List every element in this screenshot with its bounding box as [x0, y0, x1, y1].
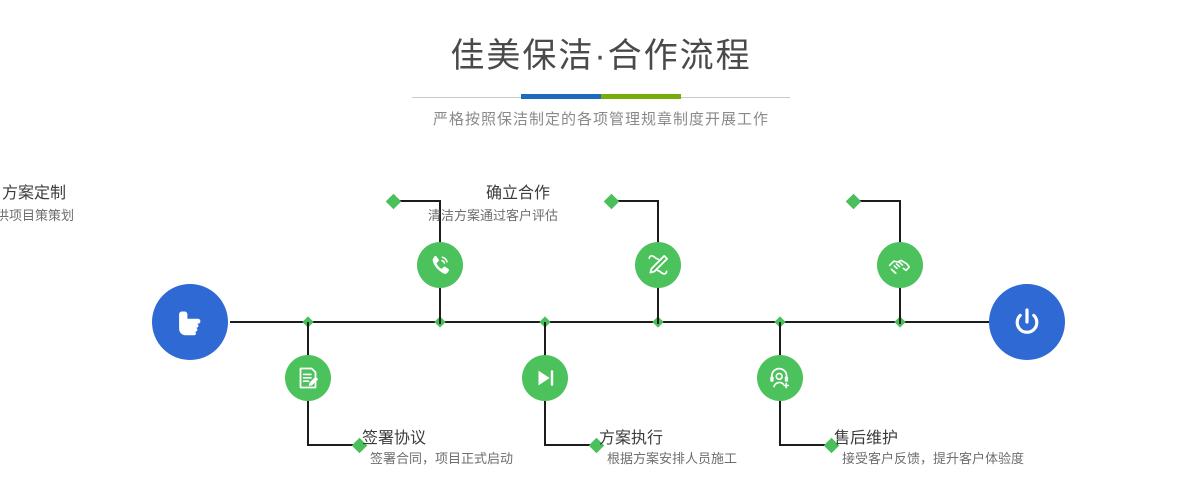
step-desc: 为客户提供项目策策划 [0, 206, 74, 225]
step-desc: 签署合同，项目正式启动 [370, 449, 513, 468]
step-title: 方案定制 [2, 184, 66, 204]
step-icon-circle[interactable] [285, 355, 331, 401]
step-icon-circle[interactable] [522, 355, 568, 401]
step-desc: 根据方案安排人员施工 [607, 449, 737, 468]
process-flow-diagram: 签署协议 签署合同，项目正式启动 电话咨询 阐明基 [0, 0, 1202, 502]
signed-document-icon [295, 365, 321, 391]
play-execute-icon [532, 365, 558, 391]
pointing-hand-icon [170, 302, 210, 342]
flow-chart-page: 佳美保洁·合作流程 严格按照保洁制定的各项管理规章制度开展工作 [0, 0, 1202, 502]
timeline-axis [230, 321, 990, 323]
step-icon-circle[interactable] [877, 242, 923, 288]
step-title: 售后维护 [834, 429, 1024, 449]
step-label-1: 签署协议 签署合同，项目正式启动 [362, 429, 513, 468]
power-icon [1007, 302, 1047, 342]
step-title: 签署协议 [362, 429, 513, 449]
label-marker [846, 193, 862, 209]
phone-call-icon [427, 252, 453, 278]
step-icon-circle[interactable] [757, 355, 803, 401]
customer-support-icon [767, 365, 793, 391]
handshake-icon [887, 252, 913, 278]
step-label-5: 售后维护 接受客户反馈，提升客户体验度 [834, 429, 1024, 468]
step-desc: 接受客户反馈，提升客户体验度 [842, 449, 1024, 468]
pencil-edit-icon [645, 252, 671, 278]
step-desc: 清洁方案通过客户评估 [428, 206, 558, 225]
label-marker [386, 193, 402, 209]
step-title: 方案执行 [599, 429, 737, 449]
flow-end-marker [989, 284, 1065, 360]
step-label-3: 方案执行 根据方案安排人员施工 [599, 429, 737, 468]
step-title: 确立合作 [486, 184, 550, 204]
label-marker [604, 193, 620, 209]
flow-start-marker [152, 284, 228, 360]
step-icon-circle[interactable] [417, 242, 463, 288]
step-icon-circle[interactable] [635, 242, 681, 288]
